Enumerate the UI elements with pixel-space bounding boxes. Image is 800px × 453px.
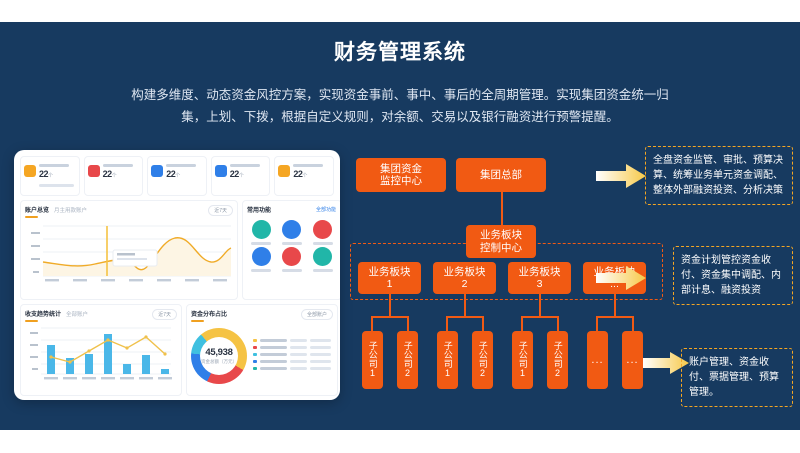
page-subtitle: 构建多维度、动态资金风控方案，实现资金事前、事中、事后的全周期管理。实现集团资金… [120,84,680,128]
callout-group-level: 全盘资金监管、审批、预算决算、统筹业务单元资金调配、整体外部融资投资、分析决策 [645,146,793,205]
bill-icon [282,247,301,266]
node-label: 子公司 [367,341,378,368]
bracket-unit4-right [632,316,634,331]
node-index: 3 [537,278,543,291]
bracket-unit4-left [596,316,598,331]
node-label: 业务板块 [444,266,486,279]
node-label-line1: 集团资金 [380,163,422,176]
kpi-value: 22个 [103,169,140,181]
node-business-unit-2[interactable]: 业务板块 2 [433,262,496,294]
bracket-unit1 [371,316,409,318]
app-shortcut[interactable] [308,220,337,245]
kpi-icon [24,165,36,177]
arrow-to-group-callout [596,164,646,188]
app-label [313,269,333,272]
node-label: 集团总部 [480,169,522,182]
connector-unit3-drop [539,294,541,316]
app-shortcut[interactable] [278,247,307,272]
kpi-card: 22个 [147,156,207,196]
callout-subsidiary-level: 账户管理、资金收付、票据管理、预算管理。 [681,348,793,407]
node-subsidiary-5[interactable]: 子公司 1 [512,331,533,389]
node-label: 子公司 [442,341,453,368]
node-label: ... [591,355,603,366]
node-label-line2: 控制中心 [480,242,522,255]
callout-unit-level: 资金计划管控资金收付、资金集中调配、内部计息、融资投资 [673,246,793,305]
app-shortcut[interactable] [247,220,276,245]
node-index: 2 [480,368,485,379]
account-icon [313,220,332,239]
node-subsidiary-1[interactable]: 子公司 1 [362,331,383,389]
connector-unit4-drop [614,294,616,316]
app-shortcut[interactable] [247,247,276,272]
node-index: 1 [445,368,450,379]
donut-center-label: 资金总额（万元） [201,359,237,365]
budget-icon [252,247,271,266]
dashboard-screenshot: 22个 22个 22个 [14,150,340,400]
kpi-card: 22个 [84,156,144,196]
app-label [251,242,271,245]
node-subsidiary-6[interactable]: 子公司 2 [547,331,568,389]
bar-chart-filter[interactable]: 近7天 [152,309,177,320]
arrow-to-unit-callout [596,266,646,290]
node-subsidiary-more-1[interactable]: ... [587,331,608,389]
legend-item [253,360,333,364]
app-label [282,242,302,245]
page-title: 财务管理系统 [0,36,800,66]
node-index: 2 [405,368,410,379]
kpi-label [293,164,323,167]
kpi-label [166,164,196,167]
active-tab-underline [191,320,204,322]
line-chart-card: 账户总览 月主用款账户 近7天 [20,200,238,300]
line-chart-title: 账户总览 [25,205,49,214]
node-subsidiary-3[interactable]: 子公司 1 [437,331,458,389]
transfer-icon [252,220,271,239]
bar-chart-title: 收支趋势统计 [25,309,61,318]
payment-icon [282,220,301,239]
bar-chart-plot [25,322,177,384]
kpi-value: 22个 [166,169,203,181]
node-index: 1 [520,368,525,379]
node-index: 2 [555,368,560,379]
kpi-row: 22个 22个 22个 [20,156,334,196]
bracket-unit2-left [446,316,448,331]
bracket-unit3 [521,316,559,318]
kpi-label [39,164,69,167]
bar-chart-card: 收支趋势统计 全部账户 近7天 [20,304,182,396]
kpi-icon [88,165,100,177]
line-chart-tab[interactable]: 月主用款账户 [54,206,87,214]
kpi-card: 22个 [274,156,334,196]
node-label-line2: 监控中心 [380,175,422,188]
app-shortcut[interactable] [278,220,307,245]
legend-item [253,346,333,350]
bracket-unit2 [446,316,484,318]
bracket-unit3-left [521,316,523,331]
donut-ring: 45,938 资金总额（万元） [191,328,247,384]
donut-center-value: 45,938 [205,347,232,358]
slide-canvas: 财务管理系统 构建多维度、动态资金风控方案，实现资金事前、事中、事后的全周期管理… [0,0,800,453]
kpi-value: 22个 [293,169,330,181]
app-label [313,242,333,245]
node-label: 子公司 [517,341,528,368]
node-label: 子公司 [402,341,413,368]
node-subsidiary-2[interactable]: 子公司 2 [397,331,418,389]
report-icon [313,247,332,266]
donut-legend [253,339,333,374]
connector-hq-to-control [501,192,503,225]
app-shortcut[interactable] [308,247,337,272]
kpi-card: 22个 [211,156,271,196]
node-label: 子公司 [477,341,488,368]
kpi-value: 22个 [230,169,267,181]
app-label [282,269,302,272]
donut-chart-card: 资金分布占比 全部账户 45,938 资金总额（万元） [186,304,338,396]
quick-actions-title: 常用功能 [247,205,271,214]
bracket-unit1-right [407,316,409,331]
kpi-subtext [39,184,74,187]
bracket-unit3-right [557,316,559,331]
node-label: 业务板块 [519,266,561,279]
kpi-icon [215,165,227,177]
kpi-icon [151,165,163,177]
donut-chart-filter[interactable]: 全部账户 [301,309,333,320]
kpi-card: 22个 [20,156,80,196]
node-label: ... [626,355,638,366]
legend-item [253,339,333,343]
node-label: 业务板块 [369,266,411,279]
quick-actions-card: 常用功能 全部功能 [242,200,340,300]
all-functions-link[interactable]: 全部功能 [316,206,336,213]
line-chart-plot [25,218,233,284]
legend-item [253,367,333,371]
node-index: 2 [462,278,468,291]
bar-chart-sub[interactable]: 全部账户 [66,310,88,318]
connector-unit2-drop [464,294,466,316]
node-label: 子公司 [552,341,563,368]
node-subsidiary-more-2[interactable]: ... [622,331,643,389]
node-business-unit-3[interactable]: 业务板块 3 [508,262,571,294]
kpi-icon [278,165,290,177]
kpi-value: 22个 [39,169,76,181]
node-group-headquarters[interactable]: 集团总部 [456,158,546,192]
node-group-fund-monitor-center[interactable]: 集团资金 监控中心 [356,158,446,192]
bracket-unit1-left [371,316,373,331]
app-label [251,269,271,272]
node-subsidiary-4[interactable]: 子公司 2 [472,331,493,389]
kpi-label [103,164,133,167]
bracket-unit2-right [482,316,484,331]
node-index: 1 [370,368,375,379]
line-chart-filter[interactable]: 近7天 [208,205,233,216]
donut-chart-title: 资金分布占比 [191,309,227,318]
node-index: 1 [387,278,393,291]
connector-unit1-drop [389,294,391,316]
node-business-control-center[interactable]: 业务板块 控制中心 [466,225,536,258]
legend-item [253,353,333,357]
node-business-unit-1[interactable]: 业务板块 1 [358,262,421,294]
node-label-line1: 业务板块 [480,229,522,242]
bracket-unit4 [596,316,634,318]
kpi-label [230,164,260,167]
